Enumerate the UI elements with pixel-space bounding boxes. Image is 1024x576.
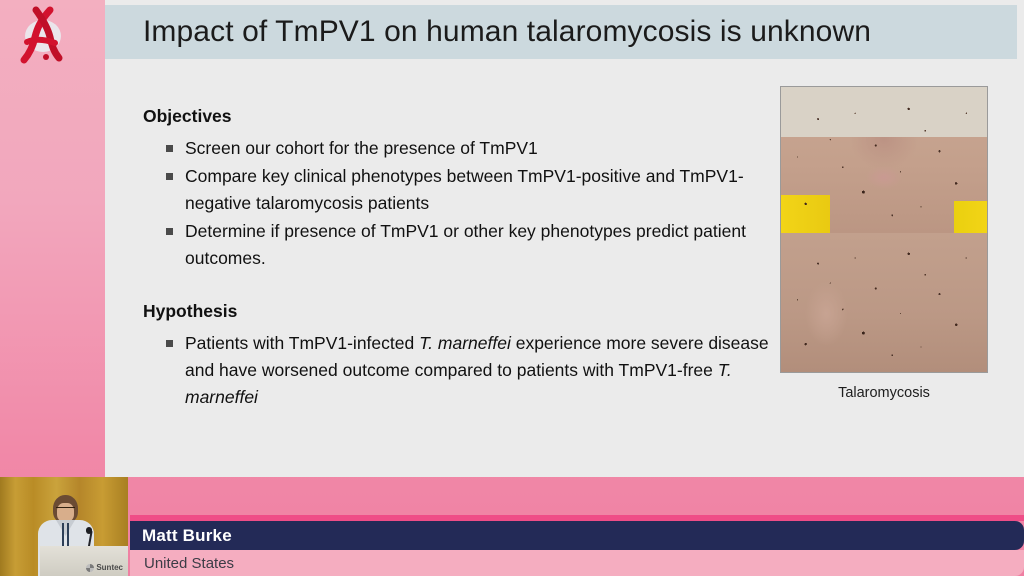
species-name-italic-1: T. marneffei	[419, 333, 511, 353]
page-title: Impact of TmPV1 on human talaromycosis i…	[105, 15, 871, 49]
objectives-list: Screen our cohort for the presence of Tm…	[163, 135, 783, 272]
square-bullet-icon	[166, 145, 173, 152]
microphone-head-icon	[86, 527, 92, 534]
suntec-mark-icon	[86, 564, 94, 572]
list-item-text: Screen our cohort for the presence of Tm…	[185, 138, 538, 158]
skin-lesions-overlay	[781, 87, 987, 233]
list-item: Compare key clinical phenotypes between …	[163, 163, 783, 217]
presentation-slide: Impact of TmPV1 on human talaromycosis i…	[105, 0, 1024, 477]
speaker-name: Matt Burke	[130, 526, 232, 546]
list-item-text: Compare key clinical phenotypes between …	[185, 166, 744, 213]
square-bullet-icon	[166, 228, 173, 235]
lower-third-banner: Matt Burke United States	[130, 521, 1024, 576]
list-item: Screen our cohort for the presence of Tm…	[163, 135, 783, 162]
slide-title-bar: Impact of TmPV1 on human talaromycosis i…	[105, 5, 1017, 59]
speaker-country-bar: United States	[130, 550, 1024, 576]
square-bullet-icon	[166, 340, 173, 347]
podium-logo: Suntec	[86, 563, 123, 572]
speaker-video-thumbnail[interactable]: Suntec	[0, 477, 128, 576]
hypothesis-list: Patients with TmPV1-infected T. marneffe…	[163, 330, 783, 411]
podium-logo-text: Suntec	[96, 563, 123, 572]
photo-frontal-face	[781, 87, 987, 233]
photo-profile-face	[781, 233, 987, 372]
section-heading-objectives: Objectives	[143, 106, 783, 127]
objectives-section: Objectives Screen our cohort for the pre…	[143, 106, 783, 272]
aids-ribbon-logo	[10, 5, 82, 67]
square-bullet-icon	[166, 173, 173, 180]
list-item: Determine if presence of TmPV1 or other …	[163, 218, 783, 272]
hypothesis-section: Hypothesis Patients with TmPV1-infected …	[143, 301, 783, 411]
clinical-photo-pair	[780, 86, 988, 373]
clinical-figure: Talaromycosis	[780, 86, 988, 401]
glasses-icon	[56, 507, 75, 511]
hypothesis-text-part-1: Patients with TmPV1-infected	[185, 333, 419, 353]
podium: Suntec	[40, 546, 128, 576]
speaker-country: United States	[130, 555, 234, 572]
list-item: Patients with TmPV1-infected T. marneffe…	[163, 330, 783, 411]
section-heading-hypothesis: Hypothesis	[143, 301, 783, 322]
figure-caption: Talaromycosis	[780, 385, 988, 401]
skin-lesions-overlay	[781, 233, 987, 372]
list-item-text: Determine if presence of TmPV1 or other …	[185, 221, 746, 268]
speaker-name-bar: Matt Burke	[130, 521, 1024, 550]
